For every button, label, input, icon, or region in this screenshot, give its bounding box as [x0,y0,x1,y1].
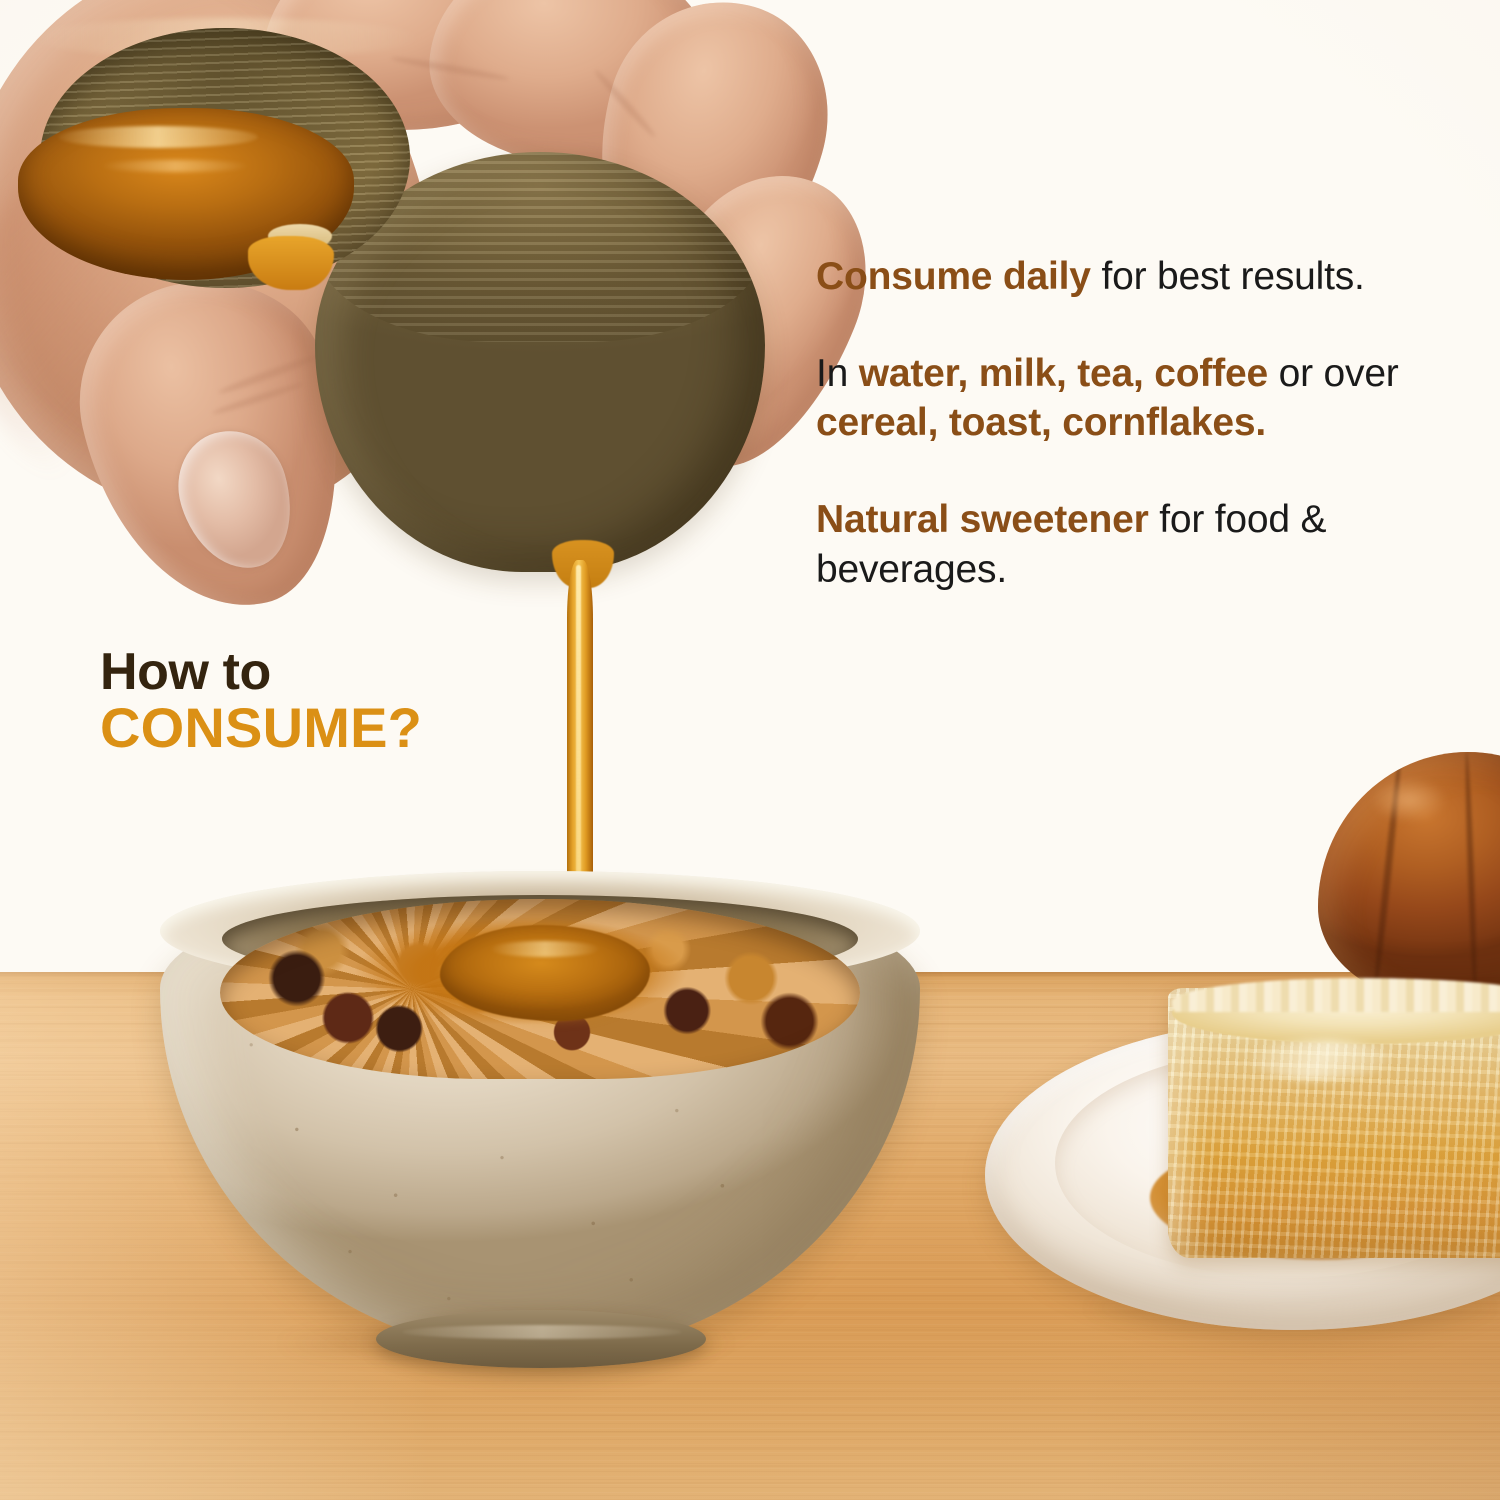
bowl-foot [376,1310,706,1368]
honey-pot [1318,752,1500,1002]
cereal-bowl [140,855,940,1375]
emphasis-text: cereal, toast, cornflakes. [816,401,1266,444]
honey-on-cereal [440,925,650,1021]
benefits-copy-block: Consume daily for best results. In water… [816,252,1436,594]
emphasis-text: Consume daily [816,255,1091,298]
honey-surface-highlight [58,126,258,148]
honey-surface-highlight [100,160,250,172]
honey-on-cereal-highlight [490,941,600,957]
benefit-paragraph-consume-daily: Consume daily for best results. [816,252,1436,301]
pot-seam [1464,752,1479,998]
plain-text: or over [1268,352,1399,395]
bowl-foot-highlight [402,1325,682,1339]
benefit-paragraph-natural-sweetener: Natural sweetener for food & beverages. [816,495,1436,593]
plain-text: for best results. [1091,255,1365,298]
page-title: How to CONSUME? [100,646,620,756]
honeycomb-highlight [1250,1040,1390,1080]
heading-line-2: CONSUME? [100,699,620,756]
heading-line-1: How to [100,646,620,699]
benefit-paragraph-with-beverages: In water, milk, tea, coffee or over cere… [816,349,1436,447]
plain-text: In [816,352,859,395]
poster-canvas: How to CONSUME? Consume daily for best r… [0,0,1500,1500]
emphasis-text: water, milk, tea, coffee [859,352,1268,395]
emphasis-text: Natural sweetener [816,498,1149,541]
pot-highlight [1354,768,1464,832]
